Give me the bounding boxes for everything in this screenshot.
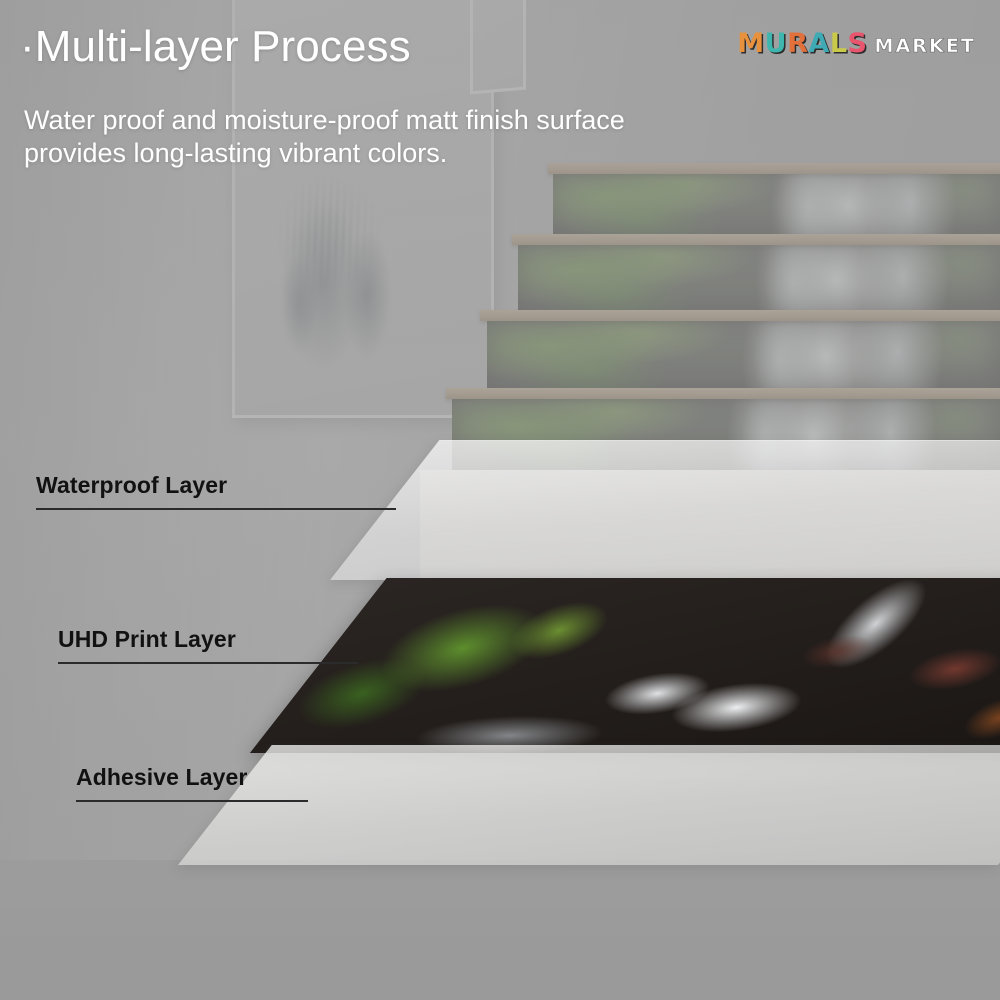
layer-label-text: Waterproof Layer xyxy=(36,474,396,497)
layer-label-rule xyxy=(76,800,308,802)
layer-label-text: UHD Print Layer xyxy=(58,628,358,651)
layer-label-waterproof: Waterproof Layer xyxy=(36,474,396,510)
layer-sheet-adhesive xyxy=(178,745,1000,865)
layer-label-text: Adhesive Layer xyxy=(76,766,308,789)
layer-label-rule xyxy=(36,508,396,510)
layer-label-adhesive: Adhesive Layer xyxy=(76,766,308,802)
layer-label-rule xyxy=(58,662,358,664)
infographic-canvas: ·Multi-layer Process Water proof and moi… xyxy=(0,0,1000,1000)
layer-sheet-waterproof xyxy=(330,440,1000,580)
layer-label-uhd-print: UHD Print Layer xyxy=(58,628,358,664)
layer-sheet-uhd-print xyxy=(250,578,1000,753)
